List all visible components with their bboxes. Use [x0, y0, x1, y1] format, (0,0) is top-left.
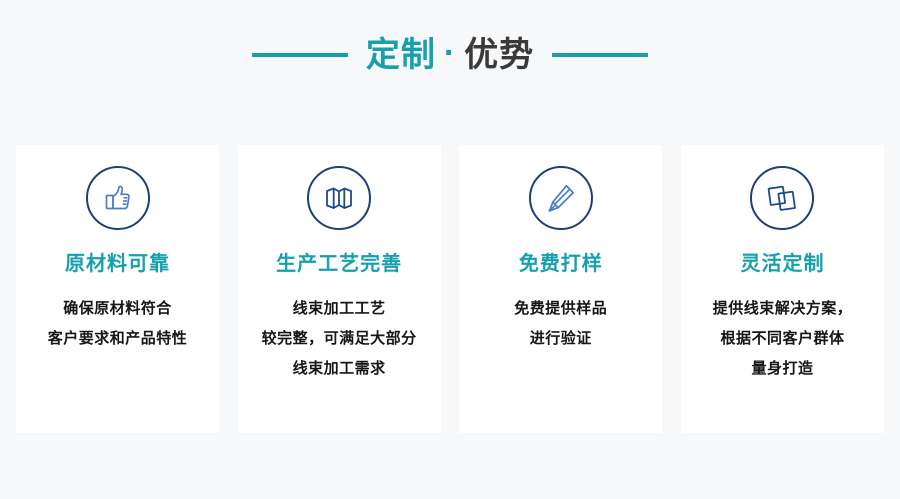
description-line: 确保原材料符合 — [24, 294, 211, 324]
description-line: 提供线束解决方案， — [689, 294, 876, 324]
title-separator-dot: · — [442, 36, 458, 70]
advantage-card-description: 确保原材料符合 客户要求和产品特性 — [16, 294, 219, 354]
advantage-card-list: 原材料可靠 确保原材料符合 客户要求和产品特性 生产工艺完善 线束加工工艺 较完… — [16, 145, 884, 433]
advantage-card[interactable]: 原材料可靠 确保原材料符合 客户要求和产品特性 — [16, 145, 219, 433]
advantage-card[interactable]: 免费打样 免费提供样品 进行验证 — [459, 145, 662, 433]
heading-rule-right — [552, 53, 648, 57]
advantage-card-title: 原材料可靠 — [65, 254, 170, 274]
page-title-accent: 定制 — [366, 38, 436, 72]
page-title: 定制 · 优势 — [366, 38, 534, 72]
advantage-card-title: 生产工艺完善 — [276, 254, 402, 274]
advantage-card-title: 灵活定制 — [740, 254, 824, 274]
stacked-cards-icon — [750, 166, 814, 230]
description-line: 客户要求和产品特性 — [24, 324, 211, 354]
advantage-card-description: 免费提供样品 进行验证 — [459, 294, 662, 354]
heading-rule-left — [252, 53, 348, 57]
pencil-icon — [529, 166, 593, 230]
thumbs-up-icon — [86, 166, 150, 230]
description-line: 根据不同客户群体 — [689, 324, 876, 354]
advantage-card[interactable]: 灵活定制 提供线束解决方案， 根据不同客户群体 量身打造 — [681, 145, 884, 433]
description-line: 免费提供样品 — [467, 294, 654, 324]
description-line: 量身打造 — [689, 354, 876, 384]
description-line: 线束加工需求 — [246, 354, 433, 384]
description-line: 线束加工工艺 — [246, 294, 433, 324]
description-line: 进行验证 — [467, 324, 654, 354]
advantage-card-title: 免费打样 — [519, 254, 603, 274]
advantage-card[interactable]: 生产工艺完善 线束加工工艺 较完整，可满足大部分 线束加工需求 — [238, 145, 441, 433]
advantage-card-description: 线束加工工艺 较完整，可满足大部分 线束加工需求 — [238, 294, 441, 384]
advantage-card-description: 提供线束解决方案， 根据不同客户群体 量身打造 — [681, 294, 884, 384]
page-title-main: 优势 — [464, 38, 534, 72]
advantages-section: 定制 · 优势 原材料可靠 确保原材料符合 客户要求和产品特性 — [0, 0, 900, 499]
section-heading: 定制 · 优势 — [0, 30, 900, 80]
description-line: 较完整，可满足大部分 — [246, 324, 433, 354]
folded-map-icon — [307, 166, 371, 230]
